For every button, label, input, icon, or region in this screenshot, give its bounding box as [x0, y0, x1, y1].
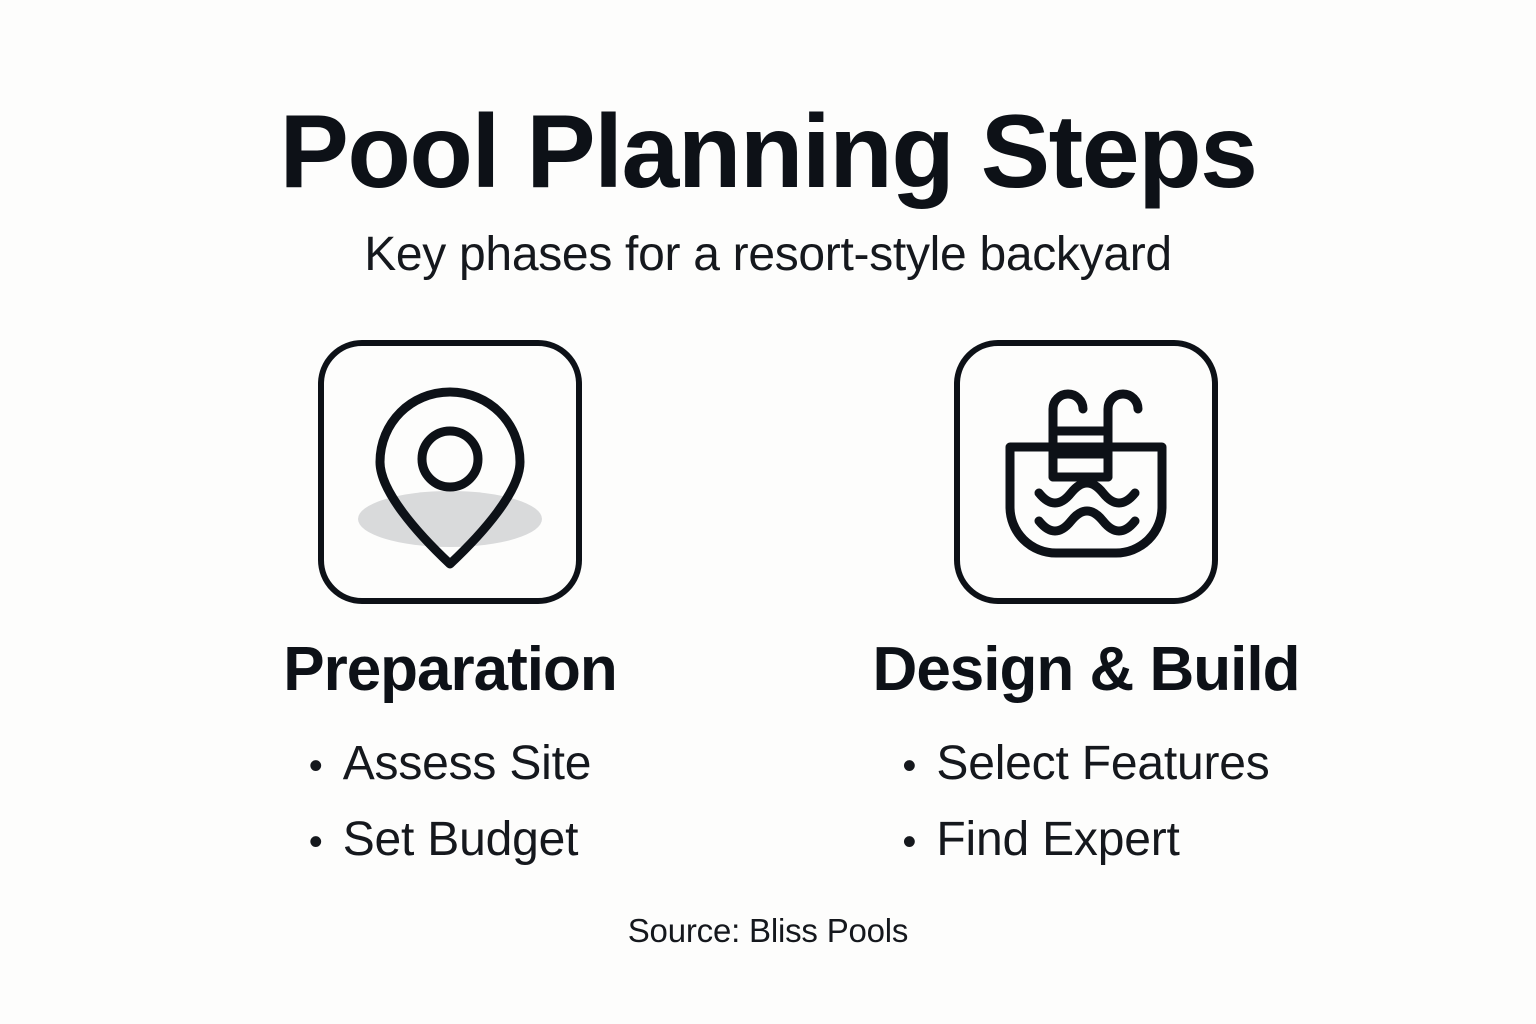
- bullet-list-design-build: • Select Features • Find Expert: [902, 726, 1269, 878]
- bullet-label: Select Features: [936, 726, 1269, 802]
- source-caption: Source: Bliss Pools: [0, 912, 1536, 950]
- bullet-icon: •: [309, 735, 343, 798]
- steps-columns: Preparation • Assess Site • Set Budget: [0, 340, 1536, 878]
- icon-frame-design-build: [954, 340, 1218, 604]
- swimming-pool-icon: [983, 369, 1189, 575]
- bullet-label: Find Expert: [936, 802, 1179, 878]
- column-heading-preparation: Preparation: [283, 636, 617, 704]
- list-item: • Assess Site: [309, 726, 592, 802]
- step-column-design-build: Design & Build • Select Features • Find …: [816, 340, 1356, 878]
- list-item: • Select Features: [902, 726, 1269, 802]
- location-pin-icon: [345, 367, 555, 577]
- list-item: • Set Budget: [309, 802, 592, 878]
- header: Pool Planning Steps Key phases for a res…: [0, 96, 1536, 284]
- bullet-label: Assess Site: [343, 726, 592, 802]
- step-column-preparation: Preparation • Assess Site • Set Budget: [180, 340, 720, 878]
- bullet-icon: •: [902, 811, 936, 874]
- bullet-icon: •: [309, 811, 343, 874]
- column-heading-design-build: Design & Build: [873, 636, 1300, 704]
- icon-frame-preparation: [318, 340, 582, 604]
- list-item: • Find Expert: [902, 802, 1269, 878]
- bullet-list-preparation: • Assess Site • Set Budget: [309, 726, 592, 878]
- page-subtitle: Key phases for a resort-style backyard: [0, 226, 1536, 284]
- page-title: Pool Planning Steps: [0, 96, 1536, 208]
- bullet-label: Set Budget: [343, 802, 579, 878]
- infographic-slide: Pool Planning Steps Key phases for a res…: [0, 0, 1536, 1024]
- bullet-icon: •: [902, 735, 936, 798]
